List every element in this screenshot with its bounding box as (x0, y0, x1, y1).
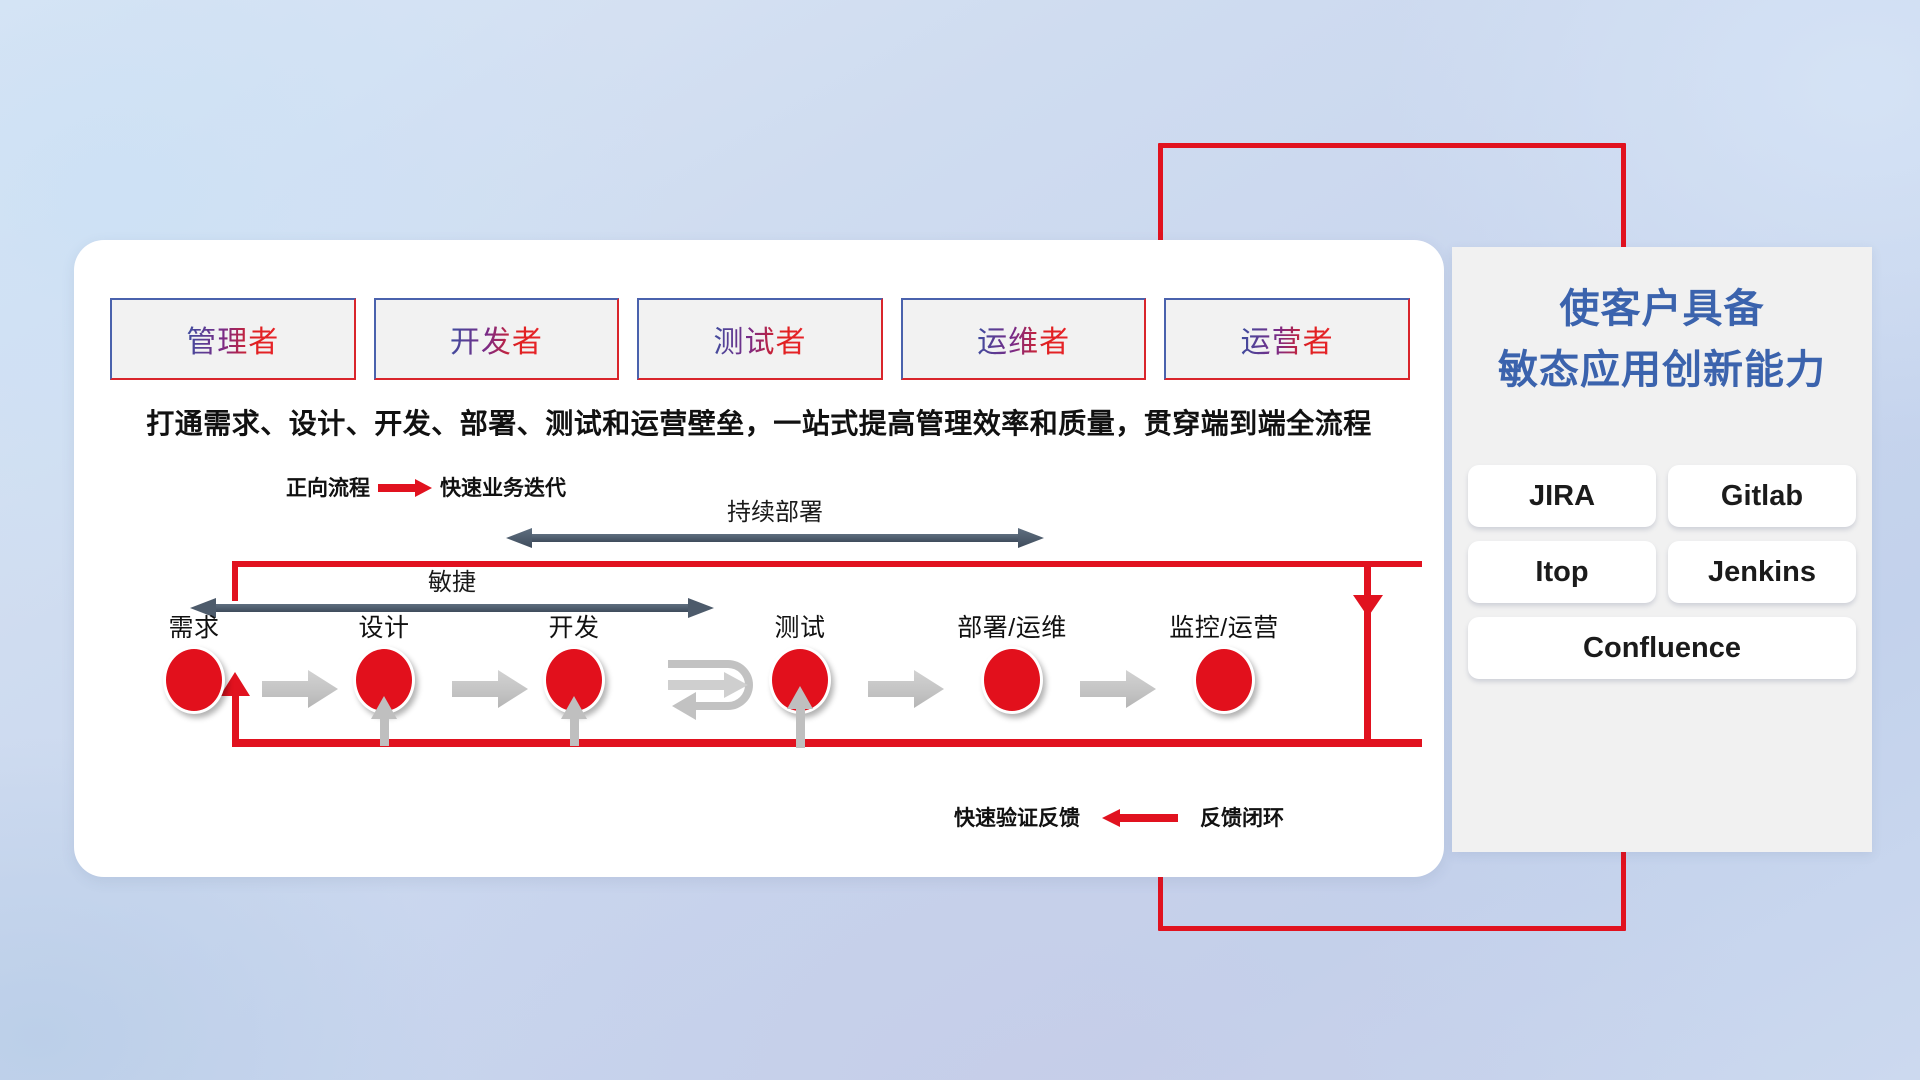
role-chip-label: 运营者 (1241, 317, 1334, 361)
block-arrow-right-icon (452, 670, 528, 708)
value-proposition-panel: 使客户具备 敏态应用创新能力 JIRA Gitlab Itop Jenkins … (1452, 247, 1872, 852)
gray-feedback-stem-development (570, 718, 579, 746)
role-chip-row: 管理者 开发者 测试者 运维者 运营者 (110, 298, 1410, 380)
stage-label: 监控/运营 (1169, 608, 1278, 644)
panel-title-line-1: 使客户具备 (1452, 279, 1872, 340)
panel-title: 使客户具备 敏态应用创新能力 (1452, 279, 1872, 401)
legend-feedback-loop: 快速验证反馈 反馈闭环 (954, 802, 1284, 832)
legend-feedback-left-label: 快速验证反馈 (954, 802, 1080, 832)
role-chip-ops[interactable]: 运维者 (901, 298, 1147, 380)
stage-label: 测试 (774, 608, 825, 644)
double-arrow-icon (506, 528, 1044, 548)
role-chip-tester[interactable]: 测试者 (637, 298, 883, 380)
tool-chip-gitlab[interactable]: Gitlab (1668, 465, 1856, 527)
tool-chip-confluence[interactable]: Confluence (1468, 617, 1856, 679)
tool-chip-jenkins[interactable]: Jenkins (1668, 541, 1856, 603)
tool-chip-jira[interactable]: JIRA (1468, 465, 1656, 527)
loop-back-icon (666, 658, 764, 724)
role-chip-operations[interactable]: 运营者 (1164, 298, 1410, 380)
tool-chip-grid: JIRA Gitlab Itop Jenkins Confluence (1462, 465, 1862, 679)
devops-pipeline: 需求 设计 (110, 612, 1410, 762)
role-chip-label: 测试者 (713, 317, 806, 361)
stage-label: 开发 (548, 608, 599, 644)
panel-title-line-2: 敏态应用创新能力 (1452, 340, 1872, 401)
tool-chip-itop[interactable]: Itop (1468, 541, 1656, 603)
block-arrow-right-icon (262, 670, 338, 708)
stage-dot (163, 646, 225, 714)
arrow-right-red-icon (378, 479, 432, 496)
stage-label: 部署/运维 (957, 608, 1066, 644)
gray-feedback-stem-design (380, 718, 389, 746)
legend-forward-left-label: 正向流程 (286, 472, 370, 502)
role-chip-label: 开发者 (450, 317, 543, 361)
gray-feedback-stem-test (796, 708, 805, 748)
red-loop-left-upper (232, 561, 238, 601)
main-content-card: 管理者 开发者 测试者 运维者 运营者 打通需求、设计、开发、部署、测试和运营壁… (74, 240, 1444, 877)
stage-dot (1193, 646, 1255, 714)
block-arrow-right-icon (868, 670, 944, 708)
slide-canvas: 管理者 开发者 测试者 运维者 运营者 打通需求、设计、开发、部署、测试和运营壁… (0, 0, 1920, 1080)
arrow-left-red-icon (1102, 809, 1178, 826)
measure-label: 持续部署 (506, 492, 1044, 527)
role-chip-manager[interactable]: 管理者 (110, 298, 356, 380)
red-loop-top-line (232, 561, 1422, 567)
role-chip-label: 管理者 (186, 317, 279, 361)
role-chip-developer[interactable]: 开发者 (374, 298, 620, 380)
role-chip-label: 运维者 (977, 317, 1070, 361)
stage-label: 设计 (358, 608, 409, 644)
legend-feedback-right-label: 反馈闭环 (1200, 802, 1284, 832)
stage-label: 需求 (168, 608, 219, 644)
headline-text: 打通需求、设计、开发、部署、测试和运营壁垒，一站式提高管理效率和质量，贯穿端到端… (74, 402, 1444, 442)
block-arrow-right-icon (1080, 670, 1156, 708)
stage-dot (981, 646, 1043, 714)
measure-label: 敏捷 (190, 562, 714, 597)
